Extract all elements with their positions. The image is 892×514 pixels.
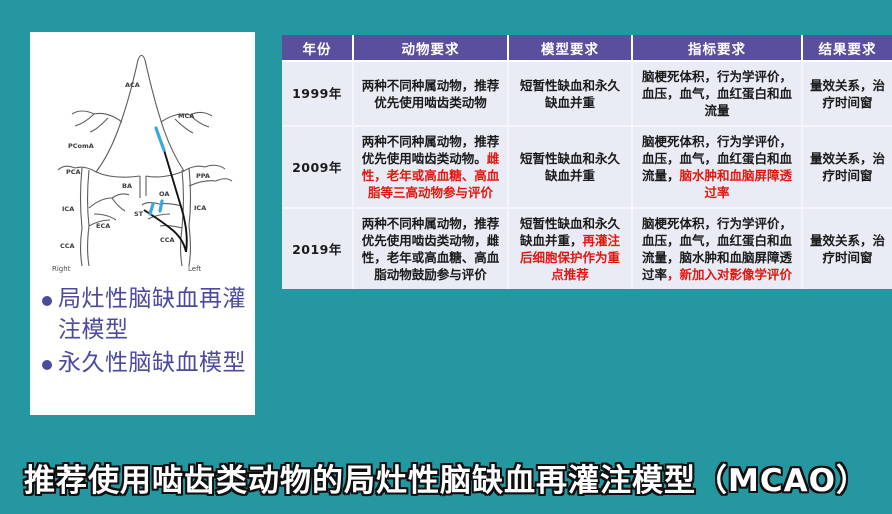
cell-result-2019: 量效关系，治疗时间窗 <box>802 208 892 289</box>
table-row: 2009年 两种不同种属动物，推荐优先使用啮齿类动物。雌性，老年或高血糖、高血脂… <box>282 126 892 208</box>
diagram-label-aca: ACA <box>125 81 140 89</box>
plain-text: 短暂性缺血和永久缺血并重 <box>520 78 620 110</box>
highlighted-text: ，新加入对影像学评价 <box>667 267 792 282</box>
diagram-label-ppa: PPA <box>196 172 210 180</box>
bullet-label-focal-ischemia-reperfusion: 局灶性脑缺血再灌注模型 <box>58 284 252 346</box>
left-illustration-card: ACA MCA PComA PCA BA PPA OA ST ICA ICA E… <box>30 32 255 415</box>
column-header-model: 模型要求 <box>508 35 632 61</box>
column-header-index: 指标要求 <box>632 35 802 61</box>
diagram-svg: ACA MCA PComA PCA BA PPA OA ST ICA ICA E… <box>30 38 255 278</box>
plain-text: 量效关系，治疗时间窗 <box>810 151 885 183</box>
cell-index-2009: 脑梗死体积，行为学评价，血压，血气，血红蛋白和血流量，脑水肿和血脑屏障透过率 <box>632 126 802 208</box>
plain-text: 短暂性缺血和永久缺血并重 <box>520 151 620 183</box>
plain-text: 两种不同种属动物，推荐优先使用啮齿类动物，雌性，老年或高血糖、高血脂动物鼓励参与… <box>362 216 500 282</box>
model-bullet-list: 局灶性脑缺血再灌注模型 永久性脑缺血模型 <box>36 284 252 381</box>
diagram-label-ica-right: ICA <box>62 205 74 213</box>
bullet-dot-icon <box>42 360 52 370</box>
plain-text: 脑梗死体积，行为学评价，血压，血气，血红蛋白和血流量 <box>642 69 792 118</box>
cell-year-2009: 2009年 <box>282 126 353 208</box>
diagram-label-st: ST <box>134 210 144 218</box>
diagram-label-ica-left: ICA <box>194 204 206 212</box>
cell-model-2019: 短暂性缺血和永久缺血并重，再灌注后细胞保护作为重点推荐 <box>508 208 632 289</box>
column-header-result: 结果要求 <box>802 35 892 61</box>
list-item: 永久性脑缺血模型 <box>36 348 252 379</box>
plain-text: 两种不同种属动物，推荐优先使用啮齿类动物 <box>362 78 500 110</box>
diagram-label-pca: PCA <box>66 168 81 176</box>
highlighted-text: 脑水肿和血脑屏障透过率 <box>680 168 793 200</box>
diagram-label-oa: OA <box>159 190 169 198</box>
cell-animal-2009: 两种不同种属动物，推荐优先使用啮齿类动物。雌性，老年或高血糖、高血脂等三高动物参… <box>353 126 508 208</box>
cell-result-2009: 量效关系，治疗时间窗 <box>802 126 892 208</box>
diagram-label-mca: MCA <box>178 112 194 120</box>
list-item: 局灶性脑缺血再灌注模型 <box>36 284 252 346</box>
table-row: 1999年 两种不同种属动物，推荐优先使用啮齿类动物 短暂性缺血和永久缺血并重 … <box>282 61 892 126</box>
bullet-dot-icon <box>42 296 52 306</box>
table-row: 2019年 两种不同种属动物，推荐优先使用啮齿类动物，雌性，老年或高血糖、高血脂… <box>282 208 892 289</box>
guideline-requirements-table: 年份 动物要求 模型要求 指标要求 结果要求 1999年 两种不同种属动物，推荐… <box>282 35 892 289</box>
cerebral-artery-diagram: ACA MCA PComA PCA BA PPA OA ST ICA ICA E… <box>30 38 255 278</box>
diagram-label-ba: BA <box>122 182 132 190</box>
bullet-label-permanent-ischemia: 永久性脑缺血模型 <box>58 348 246 379</box>
cell-result-1999: 量效关系，治疗时间窗 <box>802 61 892 126</box>
cell-year-1999: 1999年 <box>282 61 353 126</box>
banner-caption-text: 推荐使用啮齿类动物的局灶性脑缺血再灌注模型（MCAO） <box>24 455 868 500</box>
cell-index-2019: 脑梗死体积，行为学评价，血压，血气，血红蛋白和血流量，脑水肿和血脑屏障透过率，新… <box>632 208 802 289</box>
cell-index-1999: 脑梗死体积，行为学评价，血压，血气，血红蛋白和血流量 <box>632 61 802 126</box>
diagram-label-right-side: Right <box>52 265 71 273</box>
cell-animal-1999: 两种不同种属动物，推荐优先使用啮齿类动物 <box>353 61 508 126</box>
cell-year-2019: 2019年 <box>282 208 353 289</box>
plain-text: 量效关系，治疗时间窗 <box>810 233 885 265</box>
cell-model-2009: 短暂性缺血和永久缺血并重 <box>508 126 632 208</box>
diagram-label-cca-left: CCA <box>160 236 175 244</box>
diagram-label-cca-right: CCA <box>60 242 75 250</box>
diagram-label-pcoma: PComA <box>68 142 94 150</box>
diagram-label-left-side: Left <box>188 265 201 273</box>
column-header-animal: 动物要求 <box>353 35 508 61</box>
plain-text: 量效关系，治疗时间窗 <box>810 78 885 110</box>
table-header-row: 年份 动物要求 模型要求 指标要求 结果要求 <box>282 35 892 61</box>
diagram-label-eca: ECA <box>96 222 110 230</box>
cell-animal-2019: 两种不同种属动物，推荐优先使用啮齿类动物，雌性，老年或高血糖、高血脂动物鼓励参与… <box>353 208 508 289</box>
column-header-year: 年份 <box>282 35 353 61</box>
bottom-caption-banner: 推荐使用啮齿类动物的局灶性脑缺血再灌注模型（MCAO） <box>0 440 892 514</box>
plain-text: 两种不同种属动物，推荐优先使用啮齿类动物。 <box>362 134 500 166</box>
cell-model-1999: 短暂性缺血和永久缺血并重 <box>508 61 632 126</box>
